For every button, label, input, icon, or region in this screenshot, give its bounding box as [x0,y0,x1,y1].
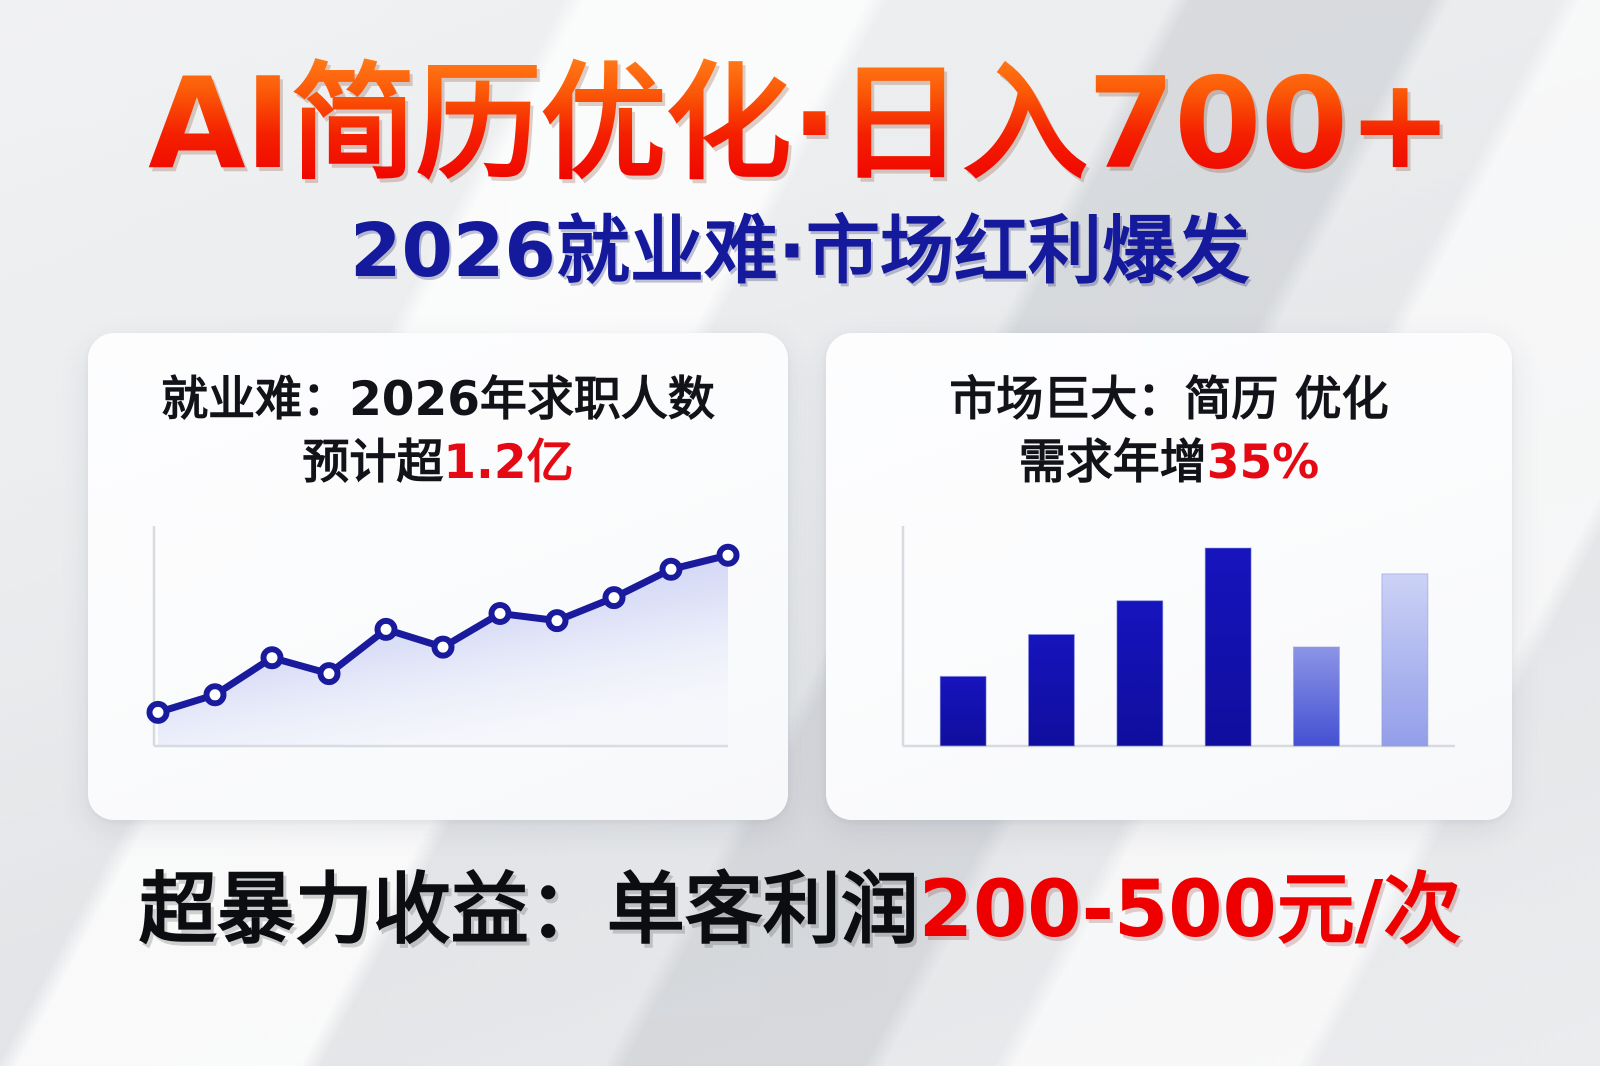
line-data-point [720,547,737,564]
line-data-point [321,665,338,682]
market-card-text: 市场巨大：简历 优化 需求年增35% [826,369,1512,494]
poster-canvas: AI简历优化·日入700+ 2026就业难·市场红利爆发 就业难：2026年求职… [0,0,1600,1066]
jobseekers-line-chart-svg [128,510,748,780]
line-data-point [207,686,224,703]
profit-banner: 超暴力收益：单客利润200-500元/次 [0,868,1600,954]
bar-item [940,676,986,746]
market-card-line1: 市场巨大：简历 优化 [949,372,1388,427]
profit-banner-highlight: 200-500元/次 [919,865,1462,955]
line-data-point [549,612,566,629]
bar-item [1205,548,1251,746]
jobseekers-line-chart [88,510,788,800]
employment-stat-card: 就业难：2026年求职人数 预计超1.2亿 [88,333,788,820]
line-data-point [492,605,509,622]
profit-banner-prefix: 超暴力收益：单客利润 [139,865,919,955]
bar-series-group [940,548,1428,746]
bar-item [1029,635,1075,747]
page-title: AI简历优化·日入700+ [0,58,1600,190]
line-data-point [264,649,281,666]
employment-card-highlight: 1.2亿 [443,435,573,490]
resume-demand-bar-chart [826,510,1512,800]
bar-item [1382,574,1428,746]
line-data-point [606,589,623,606]
line-data-point [150,704,167,721]
bar-item [1117,601,1163,746]
bar-item [1294,647,1340,746]
market-card-line2-prefix: 需求年增 [1019,435,1207,490]
employment-card-line2-prefix: 预计超 [302,435,443,490]
resume-demand-bar-chart-svg [869,510,1469,780]
line-data-point [663,561,680,578]
line-data-point [378,621,395,638]
market-card-highlight: 35% [1207,435,1320,490]
market-stat-card: 市场巨大：简历 优化 需求年增35% [826,333,1512,820]
employment-card-text: 就业难：2026年求职人数 预计超1.2亿 [88,369,788,494]
employment-card-line1: 就业难：2026年求职人数 [161,372,715,427]
line-data-point [435,639,452,656]
page-subtitle: 2026就业难·市场红利爆发 [0,212,1600,292]
